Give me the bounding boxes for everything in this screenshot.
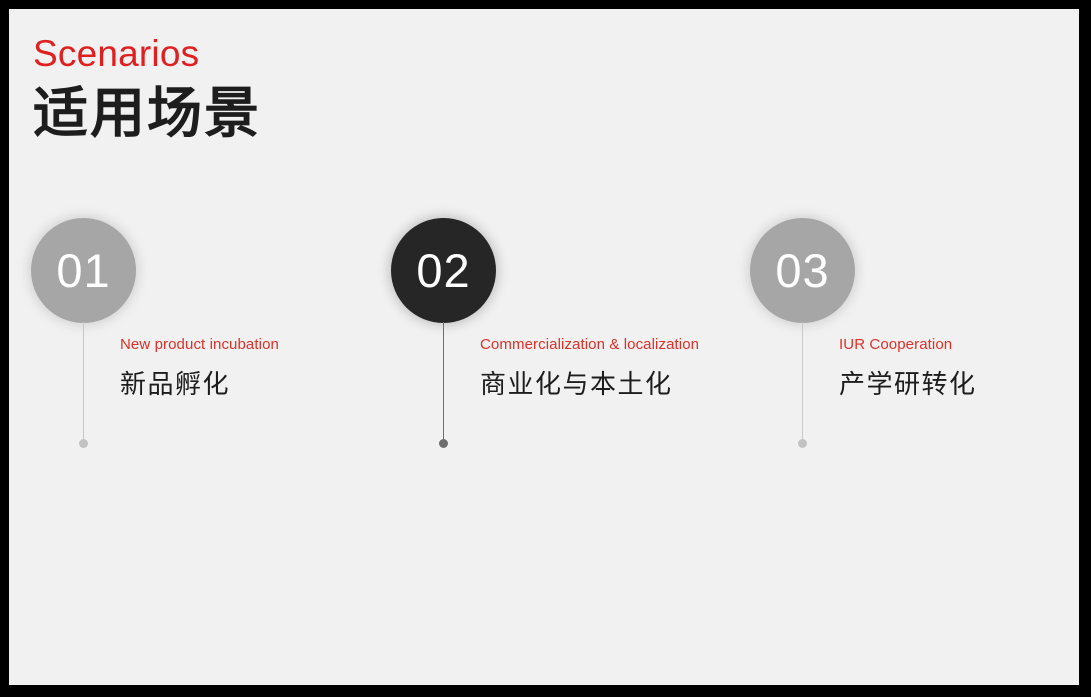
label-en-01: New product incubation — [120, 335, 279, 355]
label-block-03: IUR Cooperation 产学研转化 — [839, 335, 977, 400]
connector-line-03 — [802, 322, 803, 444]
slide-canvas: Scenarios 适用场景 01 New product incubation… — [9, 9, 1079, 685]
marker-number-02: 02 — [416, 247, 470, 294]
label-zh-02: 商业化与本土化 — [480, 368, 699, 400]
marker-number-01: 01 — [56, 247, 110, 294]
marker-circle-02[interactable]: 02 — [391, 218, 496, 323]
connector-line-01 — [83, 322, 84, 444]
label-block-02: Commercialization & localization 商业化与本土化 — [480, 335, 699, 400]
label-en-02: Commercialization & localization — [480, 335, 699, 355]
connector-dot-03 — [798, 439, 807, 448]
marker-number-03: 03 — [775, 247, 829, 294]
page-title: Scenarios 适用场景 — [33, 32, 633, 146]
label-en-03: IUR Cooperation — [839, 335, 977, 355]
title-heading: 适用场景 — [33, 80, 633, 146]
label-zh-01: 新品孵化 — [120, 368, 279, 400]
connector-dot-02 — [439, 439, 448, 448]
connector-line-02 — [443, 322, 444, 444]
marker-circle-03[interactable]: 03 — [750, 218, 855, 323]
label-block-01: New product incubation 新品孵化 — [120, 335, 279, 400]
title-eyebrow: Scenarios — [33, 32, 633, 76]
label-zh-03: 产学研转化 — [839, 368, 977, 400]
marker-circle-01[interactable]: 01 — [31, 218, 136, 323]
slide-frame: Scenarios 适用场景 01 New product incubation… — [0, 0, 1091, 697]
connector-dot-01 — [79, 439, 88, 448]
